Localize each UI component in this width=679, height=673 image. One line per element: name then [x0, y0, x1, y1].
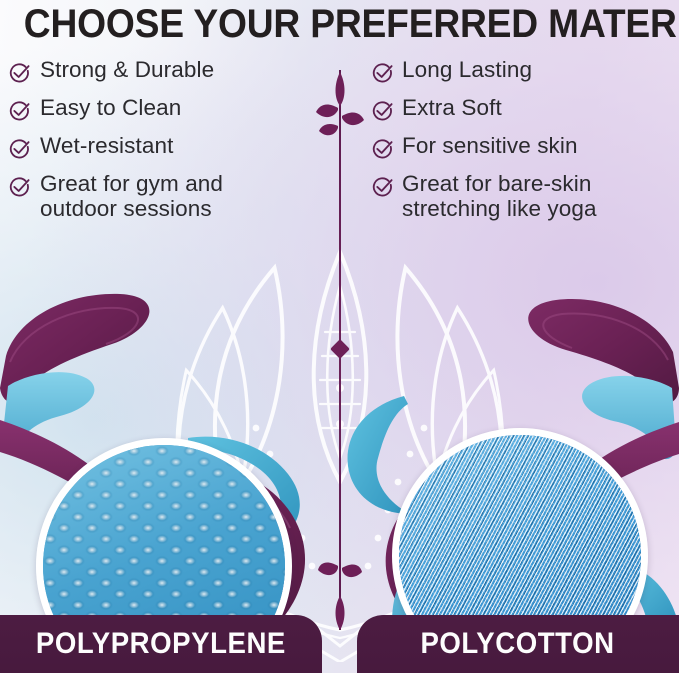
leaf-sprig-icon [314, 72, 366, 162]
check-circle-icon [371, 62, 394, 85]
list-item: Strong & Durable [8, 58, 328, 85]
material-label: POLYCOTTON [421, 627, 615, 661]
check-circle-icon [371, 100, 394, 123]
list-item-label: Wet-resistant [40, 134, 173, 159]
list-item: Great for bare-skin stretching like yoga [371, 172, 679, 221]
list-item: Wet-resistant [8, 134, 328, 161]
check-circle-icon [371, 138, 394, 161]
leaf-sprig-icon [318, 560, 362, 632]
list-item: For sensitive skin [371, 134, 679, 161]
list-item-label: Strong & Durable [40, 58, 214, 83]
check-circle-icon [8, 138, 31, 161]
feature-column-polycotton: Long Lasting Extra Soft For sensitive sk… [371, 58, 679, 232]
material-comparison-infographic: CHOOSE YOUR PREFERRED MATERIAL: Strong &… [0, 0, 679, 673]
list-item: Extra Soft [371, 96, 679, 123]
check-circle-icon [371, 176, 394, 199]
feature-column-polypropylene: Strong & Durable Easy to Clean Wet-resis… [8, 58, 328, 232]
strap-blue-left [2, 372, 94, 455]
list-item: Long Lasting [371, 58, 679, 85]
list-item-label: Great for bare-skin stretching like yoga [402, 172, 597, 221]
strap-purple-left-upper [0, 294, 149, 403]
list-item-label: Easy to Clean [40, 96, 181, 121]
material-label: POLYPROPYLENE [36, 627, 286, 661]
material-banner-polycotton: POLYCOTTON [357, 615, 679, 673]
material-banner-polypropylene: POLYPROPYLENE [0, 615, 322, 673]
list-item: Great for gym and outdoor sessions [8, 172, 328, 221]
list-item-label: For sensitive skin [402, 134, 578, 159]
list-item-label: Great for gym and outdoor sessions [40, 172, 223, 221]
list-item-label: Long Lasting [402, 58, 532, 83]
list-item-label: Extra Soft [402, 96, 502, 121]
strap-purple-right-upper [528, 299, 679, 403]
check-circle-icon [8, 100, 31, 123]
list-item: Easy to Clean [8, 96, 328, 123]
check-circle-icon [8, 176, 31, 199]
check-circle-icon [8, 62, 31, 85]
page-title: CHOOSE YOUR PREFERRED MATERIAL: [24, 2, 655, 47]
diamond-dot [330, 339, 350, 359]
